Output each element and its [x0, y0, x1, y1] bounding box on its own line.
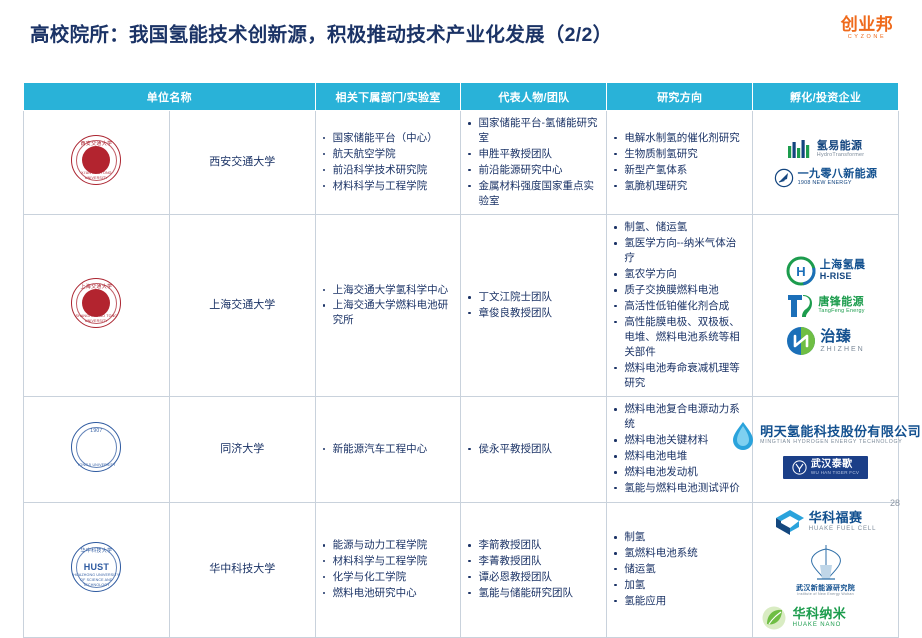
- list-item: 申胜平教授团队: [467, 147, 600, 162]
- university-name: 同济大学: [169, 397, 315, 502]
- list-item: 上海交通大学氢科学中心: [322, 283, 455, 298]
- list-item: 上海交通大学燃料电池研究所: [322, 298, 455, 328]
- firm-logo-zhizhen: 治臻 ZHIZHEN: [757, 326, 894, 356]
- seal-bottom-text: TONGJI UNIVERSITY: [72, 463, 120, 468]
- wuhan-tiger-badge: 武汉泰歌 WU HAN TIGER FCV: [783, 456, 868, 479]
- brand-logo: 创业邦 CYZONE: [828, 16, 906, 41]
- list-item: 氢能与燃料电池测试评价: [613, 481, 746, 496]
- teams-cell: 李箭教授团队 李菁教授团队 谭必恩教授团队 氢能与储能研究团队: [461, 502, 607, 637]
- brand-name-cn: 创业邦: [828, 16, 906, 33]
- university-seal-cell: 西安交通大学 XI'AN JIAOTONG UNIVERSITY: [24, 111, 170, 215]
- list-item: 质子交换膜燃料电池: [613, 283, 746, 298]
- list-item: 李箭教授团队: [467, 538, 600, 553]
- firm-logo-h-rise: H 上海氢晨 H-RISE: [786, 256, 866, 286]
- firms-cell: 明天氢能科技股份有限公司 MINGTIAN HYDROGEN ENERGY TE…: [753, 397, 899, 502]
- list-item: 氢脆机理研究: [613, 179, 746, 194]
- university-name: 西安交通大学: [169, 111, 315, 215]
- list-item: 储运氢: [613, 562, 746, 577]
- firm-name-cn: 武汉泰歌: [811, 459, 853, 470]
- table-row: 西安交通大学 XI'AN JIAOTONG UNIVERSITY 西安交通大学 …: [24, 111, 899, 215]
- list-item: 氢能与储能研究团队: [467, 586, 600, 601]
- table-row: 上海交通大学 SHANGHAI JIAO TONG UNIVERSITY 上海交…: [24, 215, 899, 397]
- firm-name-cn: 华科纳米: [793, 606, 847, 621]
- firm-name-en: HydroTransformer: [817, 153, 865, 159]
- list-item: 国家储能平台（中心）: [322, 131, 455, 146]
- list-item: 生物质制氢研究: [613, 147, 746, 162]
- list-item: 燃料电池寿命衰减机理等研究: [613, 361, 746, 391]
- firms-cell: 氢易能源 HydroTransformer 一九零八新能源: [753, 111, 899, 215]
- list-item: 电解水制氢的催化剂研究: [613, 131, 746, 146]
- seal-top-text: 1907: [72, 428, 120, 435]
- leaf-icon: [761, 605, 789, 631]
- firm-name-en: H-RISE: [820, 272, 866, 281]
- page-number: 28: [890, 498, 900, 508]
- firm-name-cn: 明天氢能科技股份有限公司: [760, 424, 921, 439]
- firms-cell: H 上海氢晨 H-RISE: [753, 215, 899, 397]
- departments-cell: 能源与动力工程学院 材料科学与工程学院 化学与化工学院 燃料电池研究中心: [315, 502, 461, 637]
- seal-core: [82, 146, 110, 174]
- list-item: 航天航空学院: [322, 147, 455, 162]
- swirl-icon: [786, 326, 816, 356]
- seal-bottom-text: SHANGHAI JIAO TONG UNIVERSITY: [72, 314, 120, 324]
- university-seal-cell: 1907 TONGJI UNIVERSITY: [24, 397, 170, 502]
- list-item: 燃料电池研究中心: [322, 586, 455, 601]
- firms-cell: 华科福赛 HUAKE FUEL CELL: [753, 502, 899, 637]
- page-title: 高校院所：我国氢能技术创新源，积极推动技术产业化发展（2/2）: [30, 18, 612, 47]
- seal-top-text: 上海交通大学: [72, 284, 120, 291]
- list-item: 燃料电池复合电源动力系统: [613, 402, 746, 432]
- seal-top-text: 华中科技大学: [72, 548, 120, 555]
- university-name: 华中科技大学: [169, 502, 315, 637]
- seal-top-text: 西安交通大学: [72, 141, 120, 148]
- hcircle-icon: H: [786, 256, 816, 286]
- svg-text:H: H: [796, 264, 805, 279]
- firm-name-en: MINGTIAN HYDROGEN ENERGY TECHNOLOGY: [760, 440, 921, 445]
- list-item: 加氢: [613, 578, 746, 593]
- list-item: 谭必恩教授团队: [467, 570, 600, 585]
- cube-icon: [775, 509, 805, 535]
- firm-name-en: HUAKE NANO: [793, 622, 847, 628]
- list-item: 氢能应用: [613, 594, 746, 609]
- teams-cell: 丁文江院士团队 章俊良教授团队: [461, 215, 607, 397]
- slide: 高校院所：我国氢能技术创新源，积极推动技术产业化发展（2/2） 创业邦 CYZO…: [0, 0, 922, 518]
- teams-cell: 国家储能平台-氢储能研究室 申胜平教授团队 前沿能源研究中心 金属材料强度国家重…: [461, 111, 607, 215]
- seal-core: HUST: [82, 553, 110, 581]
- firm-name-cn: 武汉新能源研究院: [796, 585, 855, 592]
- bars-icon: [787, 138, 813, 162]
- list-item: 材料科学与工程学院: [322, 179, 455, 194]
- list-item: 李菁教授团队: [467, 554, 600, 569]
- list-item: 丁文江院士团队: [467, 290, 600, 305]
- firm-logo-mingtian-hydrogen: 明天氢能科技股份有限公司 MINGTIAN HYDROGEN ENERGY TE…: [730, 420, 921, 450]
- tongji-seal-icon: 1907 TONGJI UNIVERSITY: [71, 422, 121, 472]
- firm-logo-huake-fuel-cell: 华科福赛 HUAKE FUEL CELL: [775, 509, 877, 535]
- directions-cell: 制氢、储运氢 氢医学方向--纳米气体治疗 氢农学方向 质子交换膜燃料电池 高活性…: [607, 215, 753, 397]
- list-item: 制氢、储运氢: [613, 220, 746, 235]
- list-item: 新能源汽车工程中心: [322, 442, 455, 457]
- list-item: 氢农学方向: [613, 267, 746, 282]
- list-item: 前沿能源研究中心: [467, 163, 600, 178]
- list-item: 材料科学与工程学院: [322, 554, 455, 569]
- departments-cell: 上海交通大学氢科学中心 上海交通大学燃料电池研究所: [315, 215, 461, 397]
- firm-name-en: WU HAN TIGER FCV: [811, 471, 859, 476]
- list-item: 侯永平教授团队: [467, 442, 600, 457]
- university-seal-cell: 华中科技大学 HUST HUAZHONG UNIVERSITY OF SCIEN…: [24, 502, 170, 637]
- tiger-icon: [792, 460, 807, 475]
- firm-logo-huake-nano: 华科纳米 HUAKE NANO: [761, 605, 891, 631]
- firm-name-en: HUAKE FUEL CELL: [809, 526, 877, 532]
- col-header-firms: 孵化/投资企业: [753, 83, 899, 111]
- list-item: 燃料电池电堆: [613, 449, 746, 464]
- col-header-teams: 代表人物/团队: [461, 83, 607, 111]
- col-header-unit-name: 单位名称: [24, 83, 316, 111]
- list-item: 能源与动力工程学院: [322, 538, 455, 553]
- university-seal-cell: 上海交通大学 SHANGHAI JIAO TONG UNIVERSITY: [24, 215, 170, 397]
- seal-core: [82, 433, 110, 461]
- tower-icon: [800, 543, 852, 585]
- firm-name-en: Institute of New Energy Wuhan: [796, 593, 855, 597]
- list-item: 前沿科学技术研究院: [322, 163, 455, 178]
- departments-cell: 国家储能平台（中心） 航天航空学院 前沿科学技术研究院 材料科学与工程学院: [315, 111, 461, 215]
- list-item: 制氢: [613, 530, 746, 545]
- directions-cell: 制氢 氢燃料电池系统 储运氢 加氢 氢能应用: [607, 502, 753, 637]
- firm-name-en: TangFeng Energy: [818, 309, 864, 315]
- firm-name-cn: 上海氢晨: [820, 259, 866, 271]
- brand-name-en: CYZONE: [828, 35, 906, 41]
- institutions-table: 单位名称 相关下属部门/实验室 代表人物/团队 研究方向 孵化/投资企业 西安交…: [23, 82, 899, 638]
- sjtu-seal-icon: 上海交通大学 SHANGHAI JIAO TONG UNIVERSITY: [71, 278, 121, 328]
- list-item: 章俊良教授团队: [467, 306, 600, 321]
- firm-logo-wuhan-new-energy-institute: 武汉新能源研究院 Institute of New Energy Wuhan: [796, 543, 855, 597]
- firm-name-cn: 唐锋能源: [818, 296, 864, 308]
- teams-cell: 侯永平教授团队: [461, 397, 607, 502]
- firm-logo-1908-new-energy: 一九零八新能源 1908 NEW ENERGY: [774, 168, 878, 188]
- table-header-row: 单位名称 相关下属部门/实验室 代表人物/团队 研究方向 孵化/投资企业: [24, 83, 899, 111]
- list-item: 燃料电池关键材料: [613, 433, 746, 448]
- list-item: 高活性低铂催化剂合成: [613, 299, 746, 314]
- directions-cell: 燃料电池复合电源动力系统 燃料电池关键材料 燃料电池电堆 燃料电池发动机 氢能与…: [607, 397, 753, 502]
- table-row: 华中科技大学 HUST HUAZHONG UNIVERSITY OF SCIEN…: [24, 502, 899, 637]
- list-item: 燃料电池发动机: [613, 465, 746, 480]
- col-header-departments: 相关下属部门/实验室: [315, 83, 461, 111]
- xjtu-seal-icon: 西安交通大学 XI'AN JIAOTONG UNIVERSITY: [71, 135, 121, 185]
- col-header-directions: 研究方向: [607, 83, 753, 111]
- list-item: 国家储能平台-氢储能研究室: [467, 116, 600, 146]
- firm-name-cn: 治臻: [820, 328, 851, 345]
- firm-name-en: 1908 NEW ENERGY: [798, 181, 878, 187]
- seal-core: [82, 289, 110, 317]
- table-row: 1907 TONGJI UNIVERSITY 同济大学 新能源汽车工程中心 侯永…: [24, 397, 899, 502]
- firm-logo-tangfeng-energy: 唐锋能源 TangFeng Energy: [786, 292, 864, 320]
- firm-name-cn: 一九零八新能源: [798, 168, 878, 180]
- seal-bottom-text: XI'AN JIAOTONG UNIVERSITY: [72, 171, 120, 181]
- firm-name-cn: 氢易能源: [817, 140, 863, 152]
- list-item: 金属材料强度国家重点实验室: [467, 179, 600, 209]
- firm-name-en: ZHIZHEN: [820, 346, 864, 353]
- list-item: 新型产氢体系: [613, 163, 746, 178]
- seal-bottom-text: HUAZHONG UNIVERSITY OF SCIENCE AND TECHN…: [72, 573, 120, 588]
- list-item: 高性能膜电极、双极板、电堆、燃料电池系统等相关部件: [613, 315, 746, 360]
- firm-logo-wuhan-tiger: 武汉泰歌 WU HAN TIGER FCV: [757, 456, 894, 479]
- directions-cell: 电解水制氢的催化剂研究 生物质制氢研究 新型产氢体系 氢脆机理研究: [607, 111, 753, 215]
- tf-icon: [786, 292, 814, 320]
- hust-seal-icon: 华中科技大学 HUST HUAZHONG UNIVERSITY OF SCIEN…: [71, 542, 121, 592]
- list-item: 氢医学方向--纳米气体治疗: [613, 236, 746, 266]
- table-body: 西安交通大学 XI'AN JIAOTONG UNIVERSITY 西安交通大学 …: [24, 111, 899, 638]
- rocket-icon: [774, 168, 794, 188]
- departments-cell: 新能源汽车工程中心: [315, 397, 461, 502]
- university-name: 上海交通大学: [169, 215, 315, 397]
- list-item: 化学与化工学院: [322, 570, 455, 585]
- list-item: 氢燃料电池系统: [613, 546, 746, 561]
- firm-logo-hydrotransformer: 氢易能源 HydroTransformer: [787, 138, 865, 162]
